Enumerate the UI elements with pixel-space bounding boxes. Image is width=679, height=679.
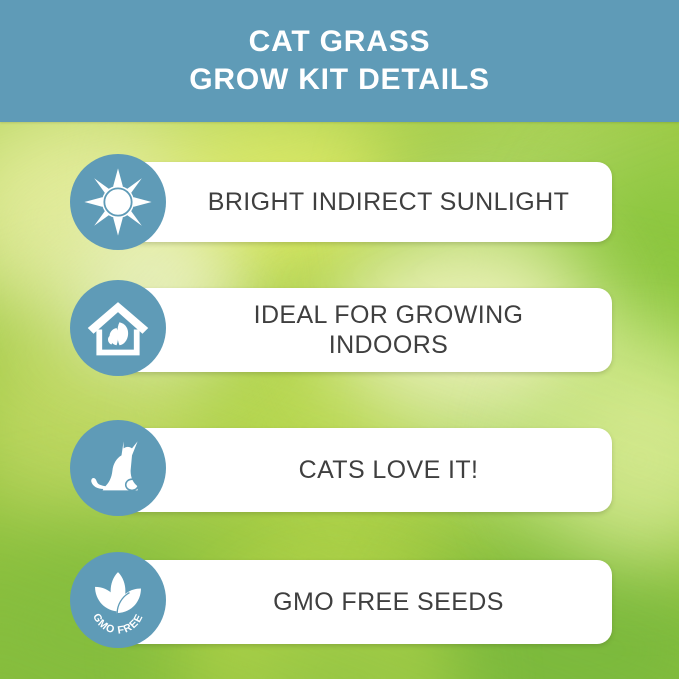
- feature-row-indoors: IDEAL FOR GROWING INDOORS: [0, 280, 679, 376]
- feature-label-indoors: IDEAL FOR GROWING INDOORS: [254, 300, 524, 361]
- feature-card-cats: CATS LOVE IT!: [115, 428, 612, 512]
- header-banner: CAT GRASS GROW KIT DETAILS: [0, 0, 679, 122]
- page-title-line-1: CAT GRASS: [249, 23, 431, 61]
- feature-label-sunlight: BRIGHT INDIRECT SUNLIGHT: [208, 187, 570, 218]
- feature-card-sunlight: BRIGHT INDIRECT SUNLIGHT: [115, 162, 612, 242]
- feature-badge-sunlight: [70, 154, 166, 250]
- svg-text:GMO FREE: GMO FREE: [90, 612, 146, 637]
- sitting-cat-icon: [83, 433, 153, 503]
- feature-row-sunlight: BRIGHT INDIRECT SUNLIGHT: [0, 154, 679, 250]
- gmo-free-leaves-icon: GMO FREE: [77, 559, 159, 641]
- sun-icon: [83, 167, 153, 237]
- feature-badge-cats: [70, 420, 166, 516]
- gmo-free-icon-label: GMO FREE: [90, 612, 146, 637]
- cat-grass-infographic: CAT GRASS GROW KIT DETAILS BRIGHT INDIRE…: [0, 0, 679, 679]
- feature-row-cats: CATS LOVE IT!: [0, 420, 679, 516]
- feature-badge-indoors: [70, 280, 166, 376]
- feature-card-gmo-free: GMO FREE SEEDS: [115, 560, 612, 644]
- feature-label-indoors-line-1: IDEAL FOR GROWING: [254, 300, 524, 331]
- house-with-leaves-icon: [82, 292, 154, 364]
- feature-label-gmo-free: GMO FREE SEEDS: [273, 587, 504, 618]
- feature-row-gmo-free: GMO FREE SEEDS GMO FREE: [0, 552, 679, 648]
- page-title-line-2: GROW KIT DETAILS: [189, 61, 490, 99]
- feature-label-cats: CATS LOVE IT!: [299, 455, 479, 486]
- feature-card-indoors: IDEAL FOR GROWING INDOORS: [115, 288, 612, 372]
- feature-badge-gmo-free: GMO FREE: [70, 552, 166, 648]
- feature-label-indoors-line-2: INDOORS: [254, 330, 524, 361]
